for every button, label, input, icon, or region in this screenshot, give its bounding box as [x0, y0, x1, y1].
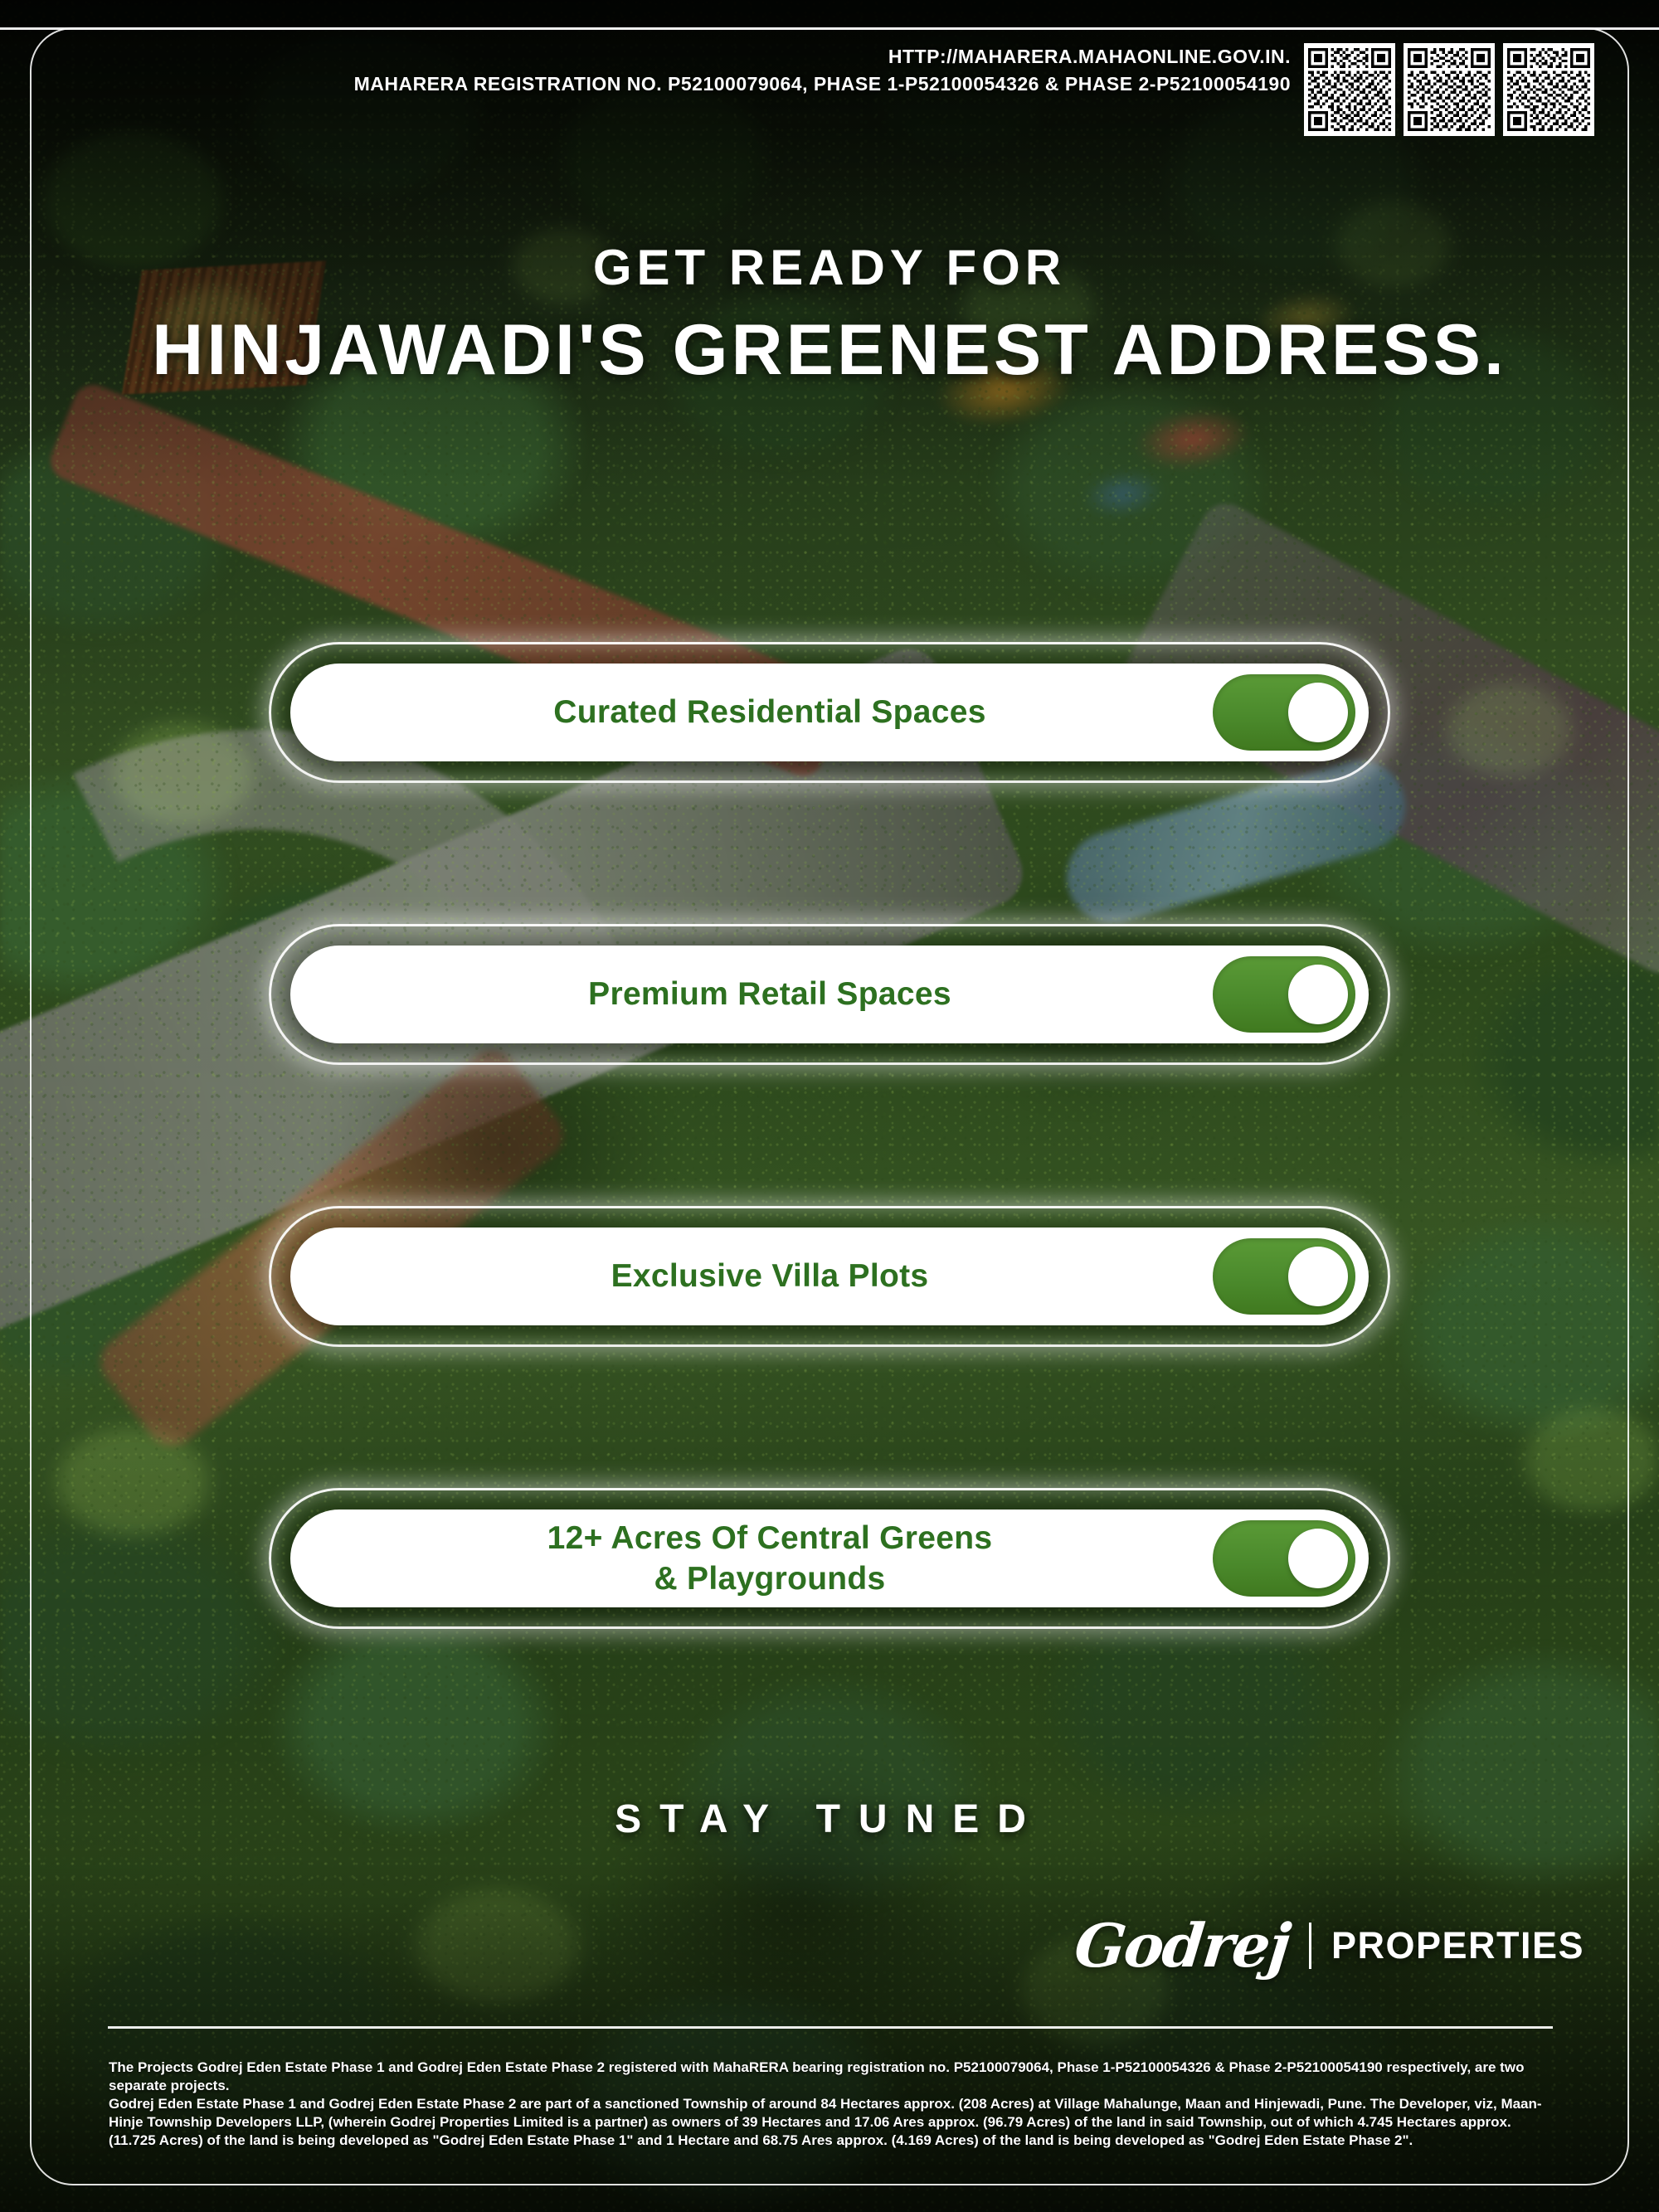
rera-info-block: HTTP://MAHARERA.MAHAONLINE.GOV.IN. MAHAR… — [0, 43, 1291, 99]
feature-row-1[interactable]: Curated Residential Spaces — [290, 664, 1369, 761]
toggle-knob-4 — [1288, 1529, 1348, 1588]
qr-code-icon-3[interactable] — [1503, 43, 1594, 136]
feature-toggle-list: Curated Residential Spaces Premium Retai… — [0, 664, 1659, 1607]
feature-pill-curated-residential-spaces[interactable]: Curated Residential Spaces — [290, 664, 1369, 761]
logo-divider — [1309, 1923, 1311, 1969]
feature-pill-central-greens-playgrounds[interactable]: 12+ Acres Of Central Greens & Playground… — [290, 1510, 1369, 1607]
feature-label-1: Curated Residential Spaces — [290, 692, 1213, 732]
godrej-wordmark: Godrej — [1072, 1916, 1292, 1976]
rera-registration-number: MAHARERA REGISTRATION NO. P52100079064, … — [0, 70, 1291, 98]
qr-code-icon-2[interactable] — [1404, 43, 1495, 136]
poster-canvas: HTTP://MAHARERA.MAHAONLINE.GOV.IN. MAHAR… — [0, 0, 1659, 2212]
feature-label-4: 12+ Acres Of Central Greens & Playground… — [290, 1518, 1213, 1599]
toggle-knob-2 — [1288, 965, 1348, 1024]
qr-code-row — [1304, 43, 1594, 136]
feature-pill-premium-retail-spaces[interactable]: Premium Retail Spaces — [290, 946, 1369, 1043]
feature-row-4[interactable]: 12+ Acres Of Central Greens & Playground… — [290, 1510, 1369, 1607]
stay-tuned-text: STAY TUNED — [0, 1796, 1659, 1842]
toggle-knob-3 — [1288, 1247, 1348, 1306]
godrej-properties-logo: Godrej PROPERTIES — [1075, 1916, 1584, 1976]
rera-url: HTTP://MAHARERA.MAHAONLINE.GOV.IN. — [0, 43, 1291, 70]
toggle-central-greens-playgrounds[interactable] — [1213, 1520, 1355, 1597]
disclaimer-divider-rule — [108, 2026, 1553, 2029]
toggle-knob-1 — [1288, 683, 1348, 742]
feature-label-2: Premium Retail Spaces — [290, 974, 1213, 1014]
qr-code-icon-1[interactable] — [1304, 43, 1395, 136]
headline-line-2: HINJAWADI'S GREENEST ADDRESS. — [0, 310, 1659, 390]
headline-line-1: GET READY FOR — [0, 241, 1659, 295]
disclaimer-paragraph-2: Godrej Eden Estate Phase 1 and Godrej Ed… — [109, 2095, 1556, 2150]
toggle-curated-residential-spaces[interactable] — [1213, 674, 1355, 751]
disclaimer-block: The Projects Godrej Eden Estate Phase 1 … — [109, 2059, 1556, 2150]
feature-pill-exclusive-villa-plots[interactable]: Exclusive Villa Plots — [290, 1228, 1369, 1325]
feature-row-2[interactable]: Premium Retail Spaces — [290, 946, 1369, 1043]
toggle-premium-retail-spaces[interactable] — [1213, 956, 1355, 1033]
toggle-exclusive-villa-plots[interactable] — [1213, 1238, 1355, 1315]
feature-row-3[interactable]: Exclusive Villa Plots — [290, 1228, 1369, 1325]
disclaimer-paragraph-1: The Projects Godrej Eden Estate Phase 1 … — [109, 2059, 1556, 2095]
headline-block: GET READY FOR HINJAWADI'S GREENEST ADDRE… — [0, 241, 1659, 390]
poster-content: HTTP://MAHARERA.MAHAONLINE.GOV.IN. MAHAR… — [0, 0, 1659, 2212]
feature-label-3: Exclusive Villa Plots — [290, 1256, 1213, 1296]
properties-wordmark: PROPERTIES — [1331, 1924, 1584, 1967]
